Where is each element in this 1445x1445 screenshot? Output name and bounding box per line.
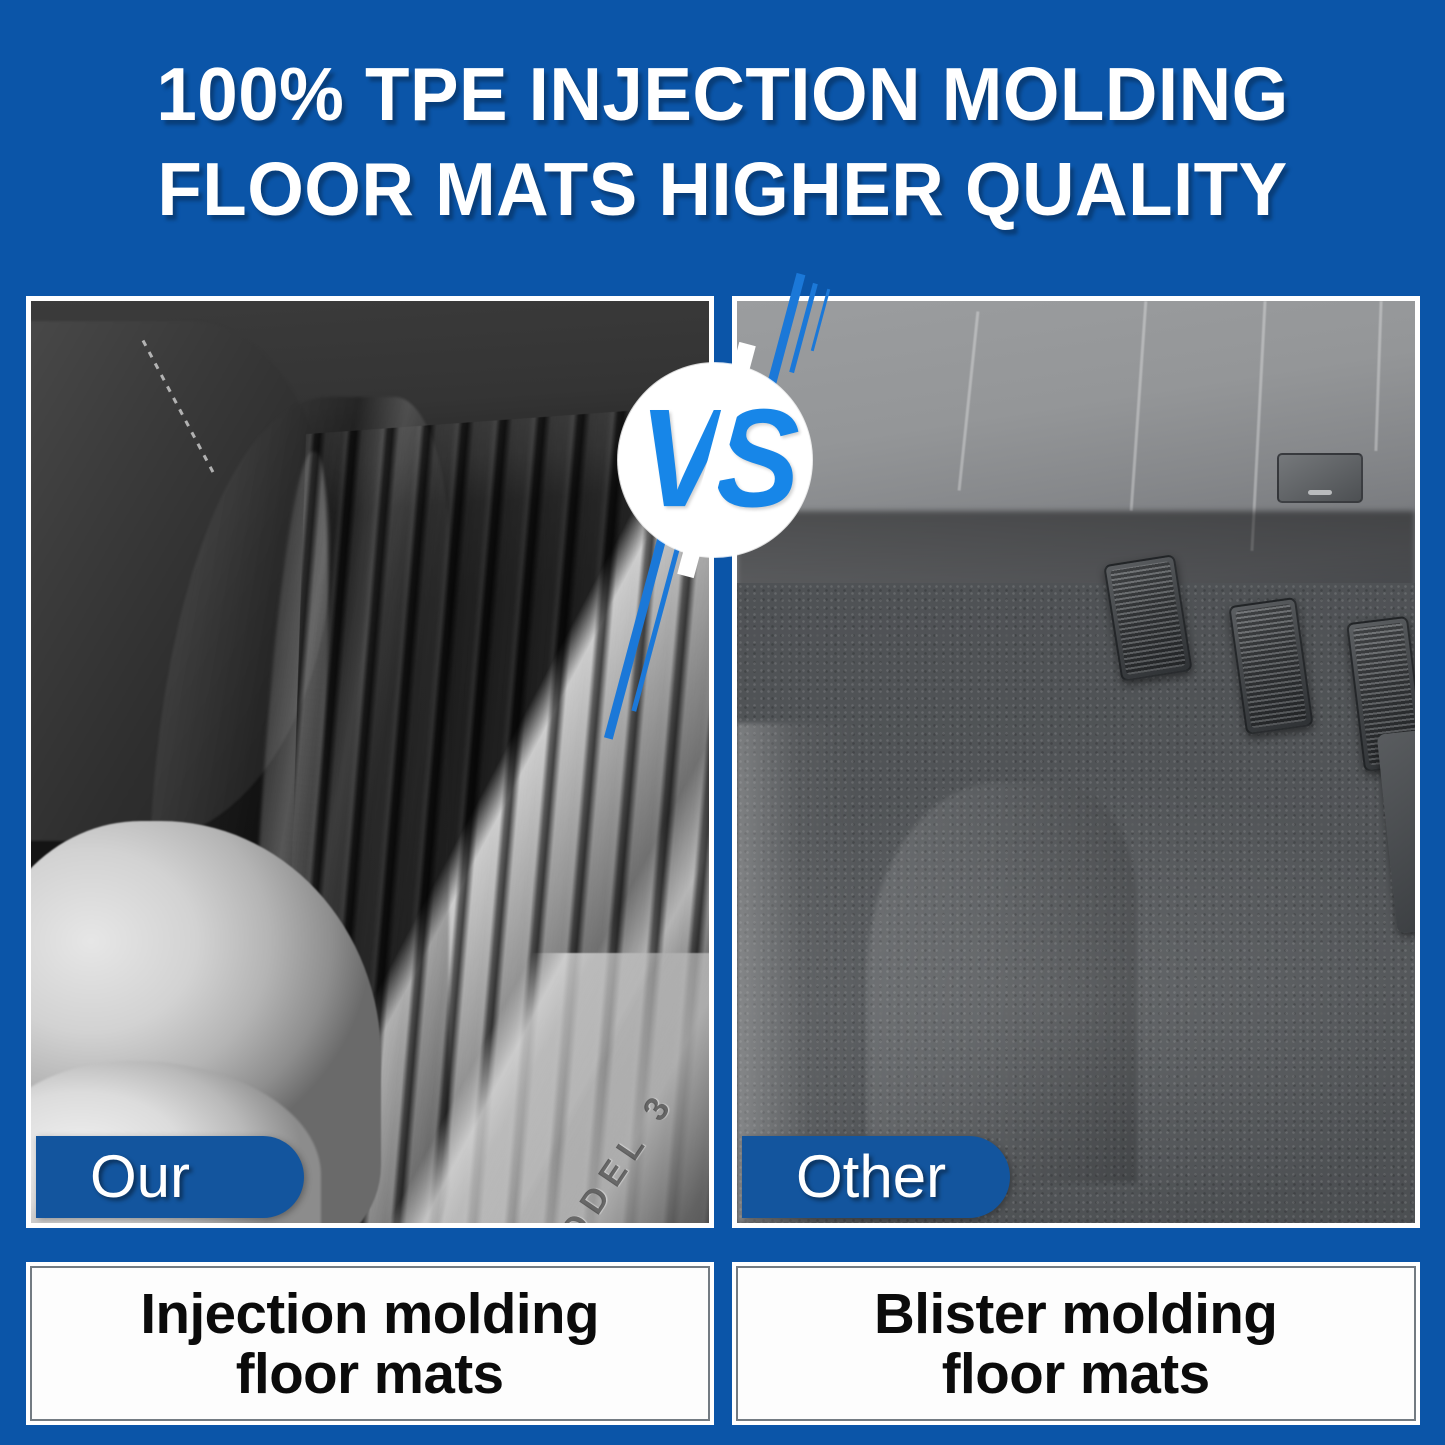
- caption-box-our: Injection molding floor mats: [26, 1262, 714, 1425]
- comparison-panels: MODEL 3 Our: [26, 296, 1420, 1228]
- page-title-line-1: 100% TPE INJECTION MOLDING: [22, 47, 1424, 142]
- caption-our-text: Injection molding floor mats: [141, 1284, 600, 1404]
- caption-box-our-inner: Injection molding floor mats: [30, 1266, 710, 1421]
- transmission-hump: [867, 783, 1137, 1183]
- caption-other-text: Blister molding floor mats: [874, 1284, 1277, 1404]
- photo-other-floor-mat: Other: [737, 301, 1415, 1223]
- air-vent-icon: [1277, 453, 1363, 503]
- badge-other: Other: [742, 1136, 1010, 1218]
- caption-box-other: Blister molding floor mats: [732, 1262, 1420, 1425]
- page-title-line-2: FLOOR MATS HIGHER QUALITY: [22, 142, 1424, 237]
- brake-pedal-face: [1110, 561, 1186, 675]
- photo-our-floor-mat: MODEL 3 Our: [31, 301, 709, 1223]
- infographic-root: 100% TPE INJECTION MOLDING FLOOR MATS HI…: [0, 0, 1445, 1445]
- accelerator-pedal-face: [1235, 604, 1307, 729]
- comparison-panel-our: MODEL 3 Our: [26, 296, 714, 1228]
- badge-other-label: Other: [796, 1147, 946, 1207]
- badge-our-label: Our: [90, 1147, 190, 1207]
- door-sill-plate: [329, 953, 709, 1223]
- caption-box-other-inner: Blister molding floor mats: [736, 1266, 1416, 1421]
- page-title: 100% TPE INJECTION MOLDING FLOOR MATS HI…: [22, 47, 1424, 237]
- comparison-panel-other: Other: [732, 296, 1420, 1228]
- caption-row: Injection molding floor mats Blister mol…: [26, 1262, 1420, 1425]
- badge-our: Our: [36, 1136, 304, 1218]
